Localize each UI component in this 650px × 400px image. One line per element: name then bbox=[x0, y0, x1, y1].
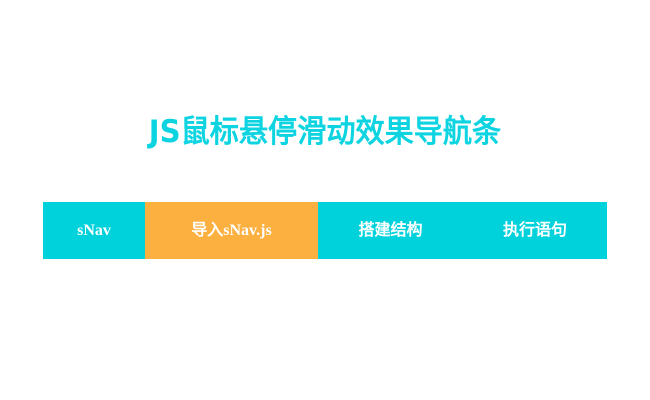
nav-item-1[interactable]: 导入sNav.js bbox=[145, 202, 318, 259]
nav-item-label: sNav bbox=[77, 223, 111, 239]
nav-item-2[interactable]: 搭建结构 bbox=[318, 202, 463, 259]
nav-item-label: 导入sNav.js bbox=[191, 223, 271, 239]
nav-item-3[interactable]: 执行语句 bbox=[463, 202, 607, 259]
page-root: JS鼠标悬停滑动效果导航条 sNav 导入sNav.js 搭建结构 执行语句 bbox=[0, 0, 650, 400]
navigation-bar: sNav 导入sNav.js 搭建结构 执行语句 bbox=[43, 202, 607, 259]
nav-item-0[interactable]: sNav bbox=[43, 202, 145, 259]
page-title: JS鼠标悬停滑动效果导航条 bbox=[20, 111, 631, 153]
nav-item-label: 搭建结构 bbox=[358, 223, 422, 239]
nav-item-label: 执行语句 bbox=[503, 223, 567, 239]
